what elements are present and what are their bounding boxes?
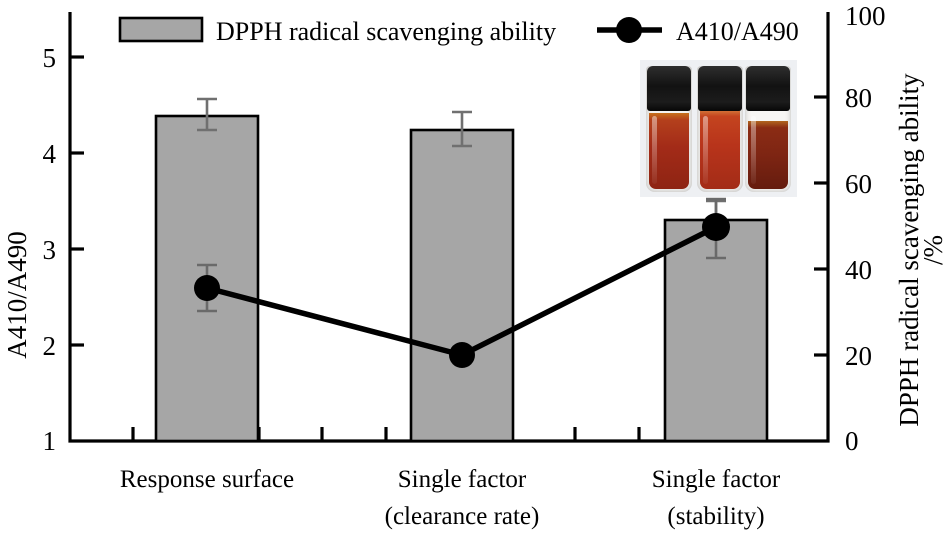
right-tick-label-100: 100	[845, 1, 886, 31]
vial-photograph-inset	[640, 60, 797, 197]
bar-single-factor-clearance-rate[interactable]	[411, 130, 513, 441]
data-point-single-factor-clearance-rate[interactable]	[449, 342, 475, 368]
category-label-1-line-0: Single factor	[398, 466, 527, 493]
vial-3-highlight	[751, 116, 755, 184]
legend: DPPH radical scavenging ability A410/A49…	[120, 17, 799, 46]
right-axis-ticks	[814, 97, 828, 355]
vial-2-cap	[698, 66, 742, 111]
right-axis-title-unit: /%	[918, 235, 945, 265]
data-point-single-factor-stability[interactable]	[702, 213, 730, 241]
category-label-1-line-1: (clearance rate)	[385, 503, 540, 530]
category-labels: Response surface Single factor (clearanc…	[120, 466, 781, 530]
vial-3	[745, 66, 791, 192]
category-label-2-line-1: (stability)	[667, 503, 764, 530]
right-tick-label-40: 40	[845, 255, 872, 285]
left-axis-ticks	[70, 57, 84, 345]
category-label-2-line-0: Single factor	[652, 466, 781, 493]
right-tick-label-60: 60	[845, 169, 872, 199]
legend-label-a410: A410/A490	[676, 17, 799, 46]
left-tick-label-5: 5	[43, 43, 57, 73]
right-tick-label-0: 0	[845, 426, 859, 456]
chart-canvas: 5 4 3 2 1 100 80 60 40 20 0 A410/A490 DP…	[0, 0, 945, 543]
right-tick-label-20: 20	[845, 341, 872, 371]
vial-2-highlight	[703, 116, 707, 184]
legend-marker-a410	[616, 17, 642, 43]
left-tick-label-4: 4	[43, 139, 57, 169]
right-tick-label-80: 80	[845, 83, 872, 113]
vial-1-cap	[647, 66, 691, 111]
vial-2	[697, 66, 743, 192]
vial-3-cap	[746, 66, 790, 111]
left-tick-label-1: 1	[43, 426, 57, 456]
legend-swatch-bar	[120, 18, 202, 41]
category-label-0-line-0: Response surface	[120, 466, 294, 493]
data-point-response-surface[interactable]	[194, 275, 220, 301]
legend-label-dpph: DPPH radical scavenging ability	[216, 17, 556, 46]
vial-1	[646, 66, 692, 192]
vial-1-highlight	[652, 116, 656, 184]
chart-figure: 5 4 3 2 1 100 80 60 40 20 0 A410/A490 DP…	[0, 0, 945, 543]
left-tick-label-2: 2	[43, 331, 57, 361]
left-tick-label-3: 3	[43, 235, 57, 265]
left-axis-title: A410/A490	[2, 231, 32, 359]
